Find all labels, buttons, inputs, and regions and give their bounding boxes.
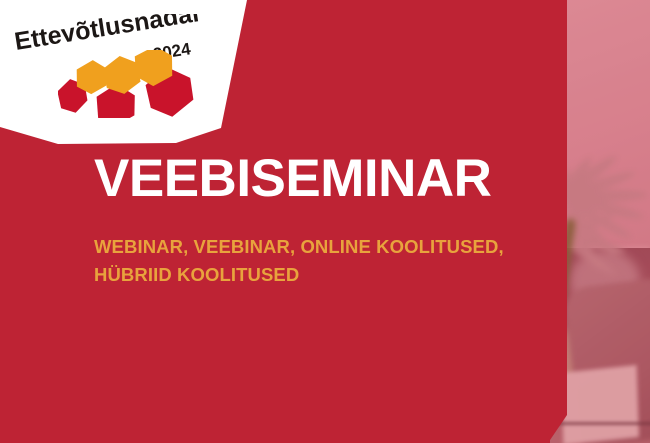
logo-plate: Ettevõtlusnädal 2024	[0, 0, 252, 150]
subtitle-line-1: WEBINAR, VEEBINAR, ONLINE KOOLITUSED,	[94, 233, 564, 261]
page-subtitle: WEBINAR, VEEBINAR, ONLINE KOOLITUSED, HÜ…	[94, 207, 564, 289]
webinar-poster: Ettevõtlusnädal 2024 VEEBISEMINAR WEBINA…	[0, 0, 650, 443]
headline-block: VEEBISEMINAR WEBINAR, VEEBINAR, ONLINE K…	[94, 151, 564, 289]
logo-hexagon-cluster	[58, 50, 198, 118]
page-title: VEEBISEMINAR	[94, 151, 564, 207]
subtitle-line-2: HÜBRIID KOOLITUSED	[94, 261, 564, 289]
